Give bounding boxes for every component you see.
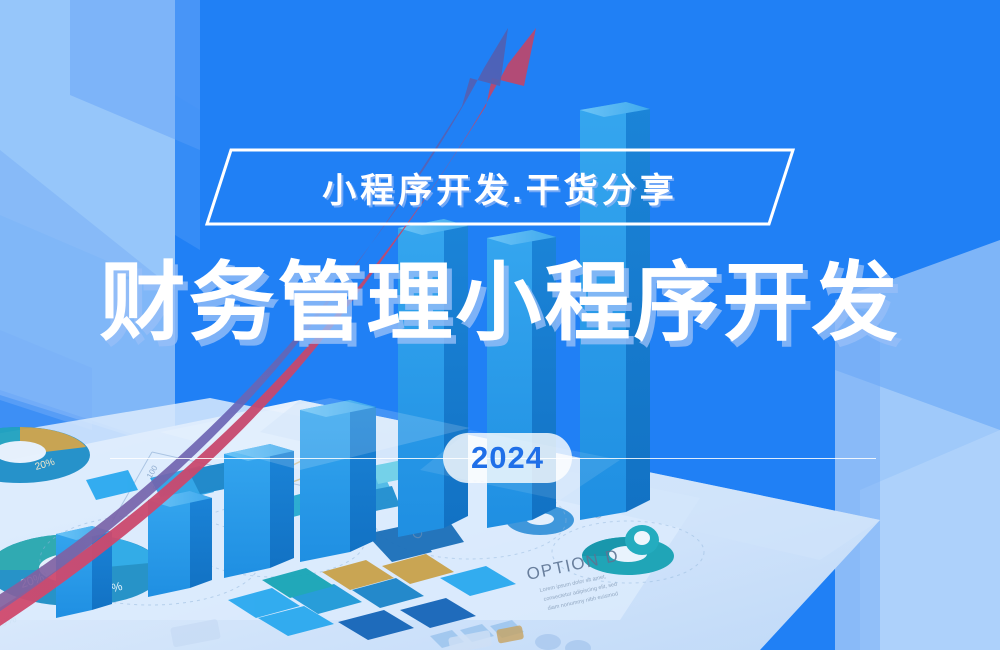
promo-banner: 100 80 60 40 20 0 20 20% 20%	[0, 0, 1000, 650]
subtitle: 小程序开发.干货分享	[205, 148, 795, 226]
page-title: 财务管理小程序开发	[0, 258, 1000, 348]
year-badge-label: 2024	[471, 440, 544, 476]
year-badge: 2024	[443, 433, 572, 483]
